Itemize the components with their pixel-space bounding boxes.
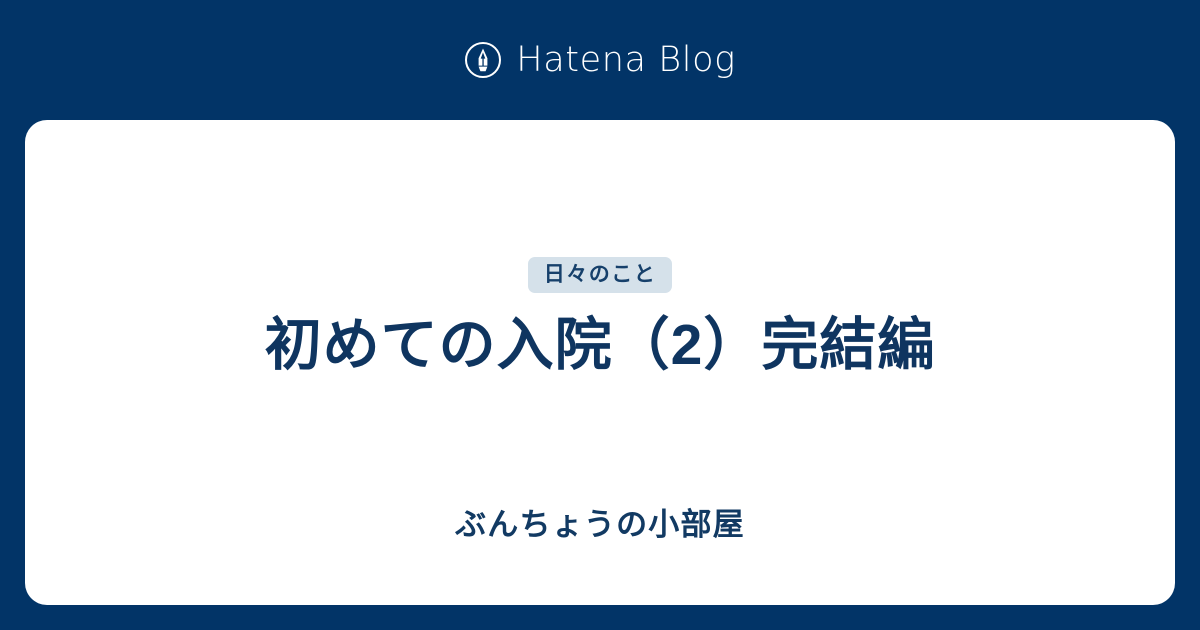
entry-title: 初めての入院（2）完結編 — [265, 307, 936, 384]
entry-title-row: 初めての入院（2）完結編 — [25, 307, 1175, 384]
hatena-blog-brand[interactable]: Hatena Blog — [464, 41, 735, 79]
brand-name-label: Hatena Blog — [516, 43, 735, 78]
category-tag[interactable]: 日々のこと — [528, 257, 673, 293]
fountain-pen-nib-circle-icon — [464, 41, 502, 79]
blog-name-row: ぶんちょうの小部屋 — [25, 505, 1175, 545]
entry-card-inner: 日々のこと 初めての入院（2）完結編 ぶんちょうの小部屋 — [25, 120, 1175, 605]
category-row: 日々のこと — [25, 257, 1175, 293]
hatena-logo — [464, 41, 502, 79]
blog-name: ぶんちょうの小部屋 — [455, 505, 745, 545]
entry-card: 日々のこと 初めての入院（2）完結編 ぶんちょうの小部屋 — [25, 120, 1175, 605]
og-image-canvas: Hatena Blog 日々のこと 初めての入院（2）完結編 ぶんちょうの小部屋 — [0, 0, 1200, 630]
site-header: Hatena Blog — [0, 0, 1200, 120]
